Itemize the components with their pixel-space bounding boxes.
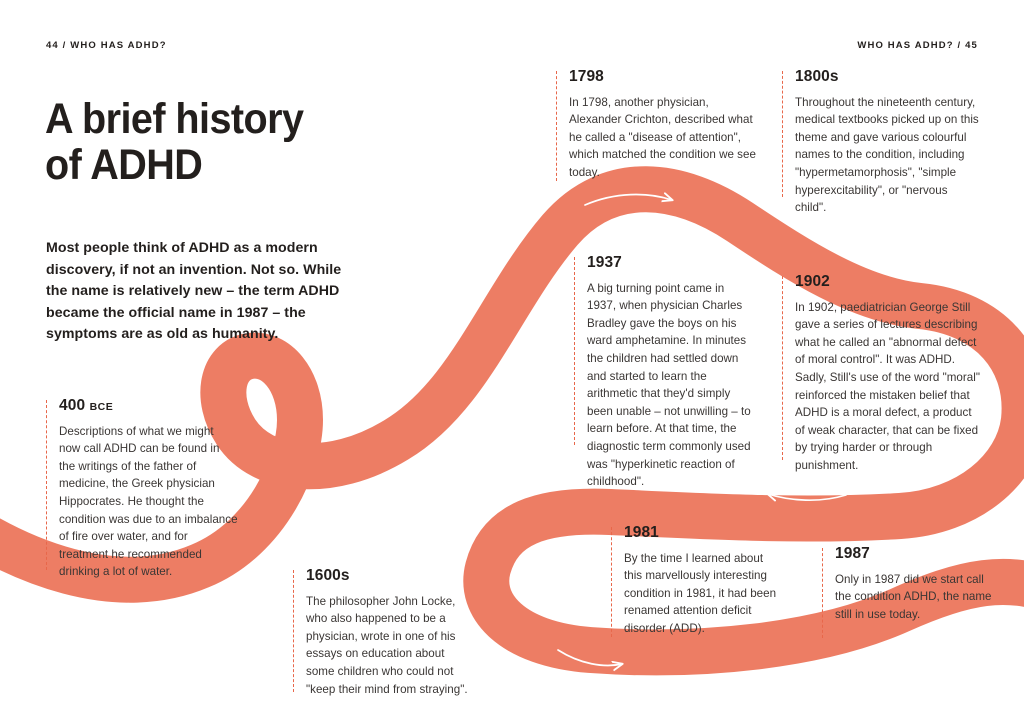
timeline-entry-1987: 1987 Only in 1987 did we start call the … [822, 546, 994, 638]
standfirst-paragraph: Most people think of ADHD as a modern di… [46, 238, 362, 346]
entry-dashed-rule [574, 257, 575, 445]
entry-body: The philosopher John Locke, who also hap… [306, 593, 473, 699]
ribbon-arrow-4 [558, 650, 622, 665]
entry-body: A big turning point came in 1937, when p… [587, 280, 756, 491]
entry-dashed-rule [611, 527, 612, 637]
running-head-right: WHO HAS ADHD? / 45 [857, 40, 978, 51]
entry-body: Descriptions of what we might now call A… [59, 423, 238, 581]
running-head-separator-left: / [63, 40, 67, 51]
entry-dashed-rule [293, 570, 294, 692]
entry-year: 1987 [835, 546, 994, 562]
page-title-line-1: A brief history [45, 96, 349, 142]
entry-year-value: 1902 [795, 273, 830, 290]
timeline-entry-1798: 1798 In 1798, another physician, Alexand… [556, 69, 761, 181]
entry-year-value: 1981 [624, 524, 659, 541]
entry-year: 1902 [795, 274, 982, 290]
timeline-entry-400-bce: 400 BCE Descriptions of what we might no… [46, 398, 238, 570]
page-number-right: 45 [965, 40, 978, 51]
running-head-left: 44 / WHO HAS ADHD? [46, 40, 167, 51]
entry-year: 1800s [795, 69, 980, 85]
running-head-title-right: WHO HAS ADHD? [857, 40, 953, 51]
entry-year-value: 400 [59, 397, 85, 414]
ribbon-arrow-2 [585, 195, 672, 205]
timeline-entry-1600s: 1600s The philosopher John Locke, who al… [293, 568, 473, 692]
timeline-entry-1902: 1902 In 1902, paediatrician George Still… [782, 274, 982, 460]
page-title-line-2: of ADHD [45, 142, 349, 188]
entry-body: By the time I learned about this marvell… [624, 550, 781, 638]
ribbon-arrow-1 [68, 604, 162, 611]
running-head-separator-right: / [958, 40, 962, 51]
timeline-entry-1981: 1981 By the time I learned about this ma… [611, 525, 781, 637]
timeline-entry-1800s: 1800s Throughout the nineteenth century,… [782, 69, 980, 197]
entry-year-value: 1987 [835, 545, 870, 562]
entry-year-era: BCE [90, 401, 114, 413]
entry-year-value: 1600s [306, 567, 350, 584]
page-number-left: 44 [46, 40, 59, 51]
entry-body: Only in 1987 did we start call the condi… [835, 571, 994, 624]
entry-year: 1798 [569, 69, 761, 85]
entry-dashed-rule [46, 400, 47, 570]
spread-page: 44 / WHO HAS ADHD? WHO HAS ADHD? / 45 A … [0, 0, 1024, 727]
entry-year-value: 1937 [587, 254, 622, 271]
entry-dashed-rule [822, 548, 823, 638]
entry-body: Throughout the nineteenth century, medic… [795, 94, 980, 217]
ribbon-arrow-3 [768, 494, 846, 500]
page-title: A brief history of ADHD [45, 96, 349, 189]
entry-year-value: 1800s [795, 68, 839, 85]
entry-dashed-rule [782, 71, 783, 197]
entry-body: In 1798, another physician, Alexander Cr… [569, 94, 761, 182]
running-head-title-left: WHO HAS ADHD? [70, 40, 166, 51]
entry-year-value: 1798 [569, 68, 604, 85]
timeline-entry-1937: 1937 A big turning point came in 1937, w… [574, 255, 756, 445]
entry-year: 1937 [587, 255, 756, 271]
entry-dashed-rule [782, 276, 783, 460]
entry-year: 400 BCE [59, 398, 238, 414]
entry-year: 1981 [624, 525, 781, 541]
entry-body: In 1902, paediatrician George Still gave… [795, 299, 982, 475]
entry-dashed-rule [556, 71, 557, 181]
entry-year: 1600s [306, 568, 473, 584]
